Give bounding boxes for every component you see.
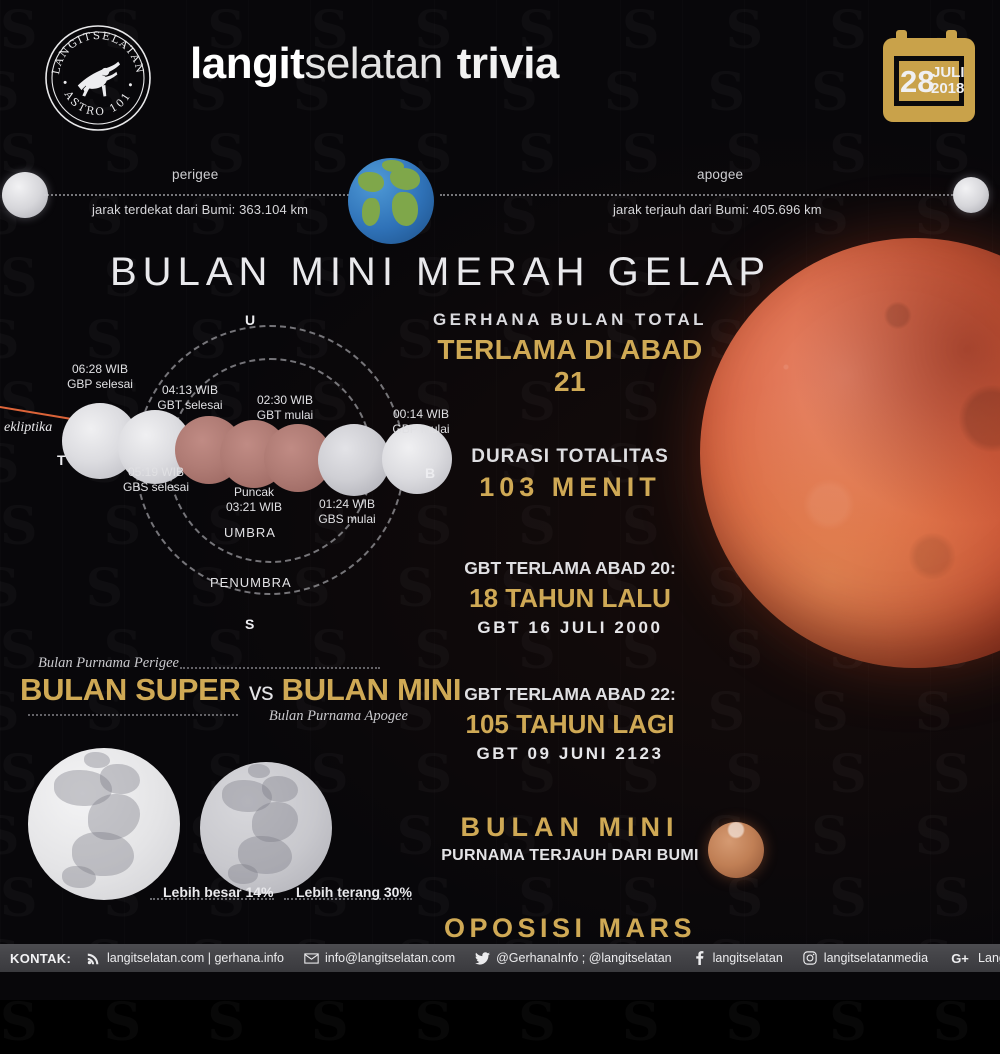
footer-contact-bar: KONTAK: langitselatan.com | gerhana.info… xyxy=(0,944,1000,972)
phase-time-0: 06:28 WIB xyxy=(48,362,152,377)
perigee-detail: jarak terdekat dari Bumi: 363.104 km xyxy=(92,202,308,217)
comparison-bottom-label: Bulan Purnama Apogee xyxy=(20,708,420,725)
instagram-icon xyxy=(803,951,818,966)
peak-label-group: Puncak 03:21 WIB xyxy=(198,485,310,515)
phase-event-1: GBS selesai xyxy=(104,480,208,495)
umbra-label: UMBRA xyxy=(224,525,276,540)
apogee-connector-line xyxy=(440,194,960,196)
mars-title: OPOSISI MARS xyxy=(420,913,720,944)
phase-event-4: GBS mulai xyxy=(297,512,397,527)
phase-label-gbt-mulai: 02:30 WIB GBT mulai xyxy=(233,393,337,423)
googleplus-icon: G+ xyxy=(948,951,972,966)
duration-value: 103 MENIT xyxy=(420,472,720,503)
footer-item-instagram[interactable]: langitselatanmedia xyxy=(803,951,928,966)
svg-text:LANGITSELATAN: LANGITSELATAN xyxy=(50,30,146,76)
century22-detail: GBT 09 JUNI 2123 xyxy=(420,744,720,764)
footer-item-email-text: info@langitselatan.com xyxy=(325,951,455,965)
comparison-title-left: BULAN SUPER xyxy=(20,672,241,707)
langitselatan-logo: LANGITSELATAN • ASTRO 101 • xyxy=(38,18,158,138)
eclipse-kind: GERHANA BULAN TOTAL xyxy=(420,310,720,330)
footer-item-website[interactable]: langitselatan.com | gerhana.info xyxy=(86,951,284,966)
phase-time-4: 01:24 WIB xyxy=(297,497,397,512)
rss-icon xyxy=(86,951,101,966)
ecliptic-label: ekliptika xyxy=(4,420,52,436)
penumbra-label: PENUMBRA xyxy=(210,575,292,590)
apogee-detail: jarak terjauh dari Bumi: 405.696 km xyxy=(613,202,822,217)
phase-label-gbt-selesai: 04:13 WIB GBT selesai xyxy=(135,383,245,413)
phase-time-3: 02:30 WIB xyxy=(233,393,337,408)
footer-item-googleplus-text: LangitselatanMedia xyxy=(978,951,1000,965)
duration-label: DURASI TOTALITAS xyxy=(420,446,720,468)
comparison-title: BULAN SUPER vs BULAN MINI xyxy=(20,672,420,708)
perigee-moon-icon xyxy=(2,172,48,218)
twitter-icon xyxy=(475,951,490,966)
phase-event-3: GBT mulai xyxy=(233,408,337,423)
century22-label: GBT TERLAMA ABAD 22: xyxy=(420,684,720,705)
caption-bright: Lebih terang 30% xyxy=(296,884,412,900)
footer-item-twitter[interactable]: @GerhanaInfo ; @langitselatan xyxy=(475,951,671,966)
watermark-row: S S S S S S S S S S S S S S S S S S S S … xyxy=(0,992,1000,1054)
eclipse-path-diagram: ekliptika 06:28 WIB GBP selesai 05:19 WI… xyxy=(0,300,470,650)
peak-label: Puncak xyxy=(198,485,310,500)
phase-time-2: 04:13 WIB xyxy=(135,383,245,398)
infographic-title: BULAN MINI MERAH GELAP xyxy=(110,250,771,295)
page-title: langitselatantrivia xyxy=(190,36,559,92)
facebook-icon xyxy=(692,951,707,966)
apogee-moon-icon xyxy=(953,177,989,213)
comparison-top-label: Bulan Purnama Perigee xyxy=(20,655,420,672)
footer-item-facebook[interactable]: langitselatan xyxy=(692,951,783,966)
footer-item-instagram-text: langitselatanmedia xyxy=(824,951,928,965)
minimoon-image xyxy=(200,762,332,894)
supermoon-image xyxy=(28,748,180,900)
date-year: 2018 xyxy=(931,80,964,97)
earth-globe-icon xyxy=(348,158,434,244)
phase-label-gbs-mulai: 01:24 WIB GBS mulai xyxy=(297,497,397,527)
footer-item-facebook-text: langitselatan xyxy=(713,951,783,965)
caption-size: Lebih besar 14% xyxy=(163,884,274,900)
minimoon-title: BULAN MINI xyxy=(420,812,720,843)
century22-value: 105 TAHUN LAGI xyxy=(420,709,720,740)
orbit-distance-row: perigee jarak terdekat dari Bumi: 363.10… xyxy=(0,150,1000,245)
footer-item-website-text: langitselatan.com | gerhana.info xyxy=(107,951,284,965)
century20-value: 18 TAHUN LALU xyxy=(420,583,720,614)
brand-bold: langit xyxy=(190,39,304,88)
header: LANGITSELATAN • ASTRO 101 • langitselata… xyxy=(0,0,1000,150)
footer-item-twitter-text: @GerhanaInfo ; @langitselatan xyxy=(496,951,671,965)
kontak-label: KONTAK: xyxy=(10,944,71,972)
perigee-connector-line xyxy=(44,194,364,196)
supermoon-vs-minimoon-section: Bulan Purnama Perigee BULAN SUPER vs BUL… xyxy=(20,655,420,725)
phase-time-1: 05:19 WIB xyxy=(104,465,208,480)
footer-item-googleplus[interactable]: G+ LangitselatanMedia xyxy=(948,951,1000,966)
century20-label: GBT TERLAMA ABAD 20: xyxy=(420,558,720,579)
phase-label-gbs-selesai: 05:19 WIB GBS selesai xyxy=(104,465,208,495)
peak-time: 03:21 WIB xyxy=(198,500,310,515)
phase-event-2: GBT selesai xyxy=(135,398,245,413)
brand-light: selatan xyxy=(304,39,442,88)
apogee-label: apogee xyxy=(697,167,743,182)
axis-south: S xyxy=(245,616,254,632)
century20-detail: GBT 16 JULI 2000 xyxy=(420,618,720,638)
seal-icon: LANGITSELATAN • ASTRO 101 • xyxy=(38,18,158,138)
axis-east: T xyxy=(57,452,66,468)
axis-north: U xyxy=(245,312,255,328)
envelope-icon xyxy=(304,951,319,966)
brand-suffix: trivia xyxy=(457,39,559,88)
date-badge: 28 JULI 2018 xyxy=(880,26,978,126)
footer-base xyxy=(0,972,1000,1000)
eclipse-record: TERLAMA DI ABAD 21 xyxy=(420,334,720,398)
facts-column: GERHANA BULAN TOTAL TERLAMA DI ABAD 21 D… xyxy=(420,310,720,970)
footer-item-email[interactable]: info@langitselatan.com xyxy=(304,951,455,966)
date-day: 28 xyxy=(900,66,934,97)
minimoon-sub: PURNAMA TERJAUH DARI BUMI xyxy=(420,847,720,865)
footer-items: langitselatan.com | gerhana.info info@la… xyxy=(86,951,1000,966)
date-month: JULI xyxy=(932,64,965,81)
perigee-label: perigee xyxy=(172,167,218,182)
comparison-title-vs: vs xyxy=(249,678,273,706)
